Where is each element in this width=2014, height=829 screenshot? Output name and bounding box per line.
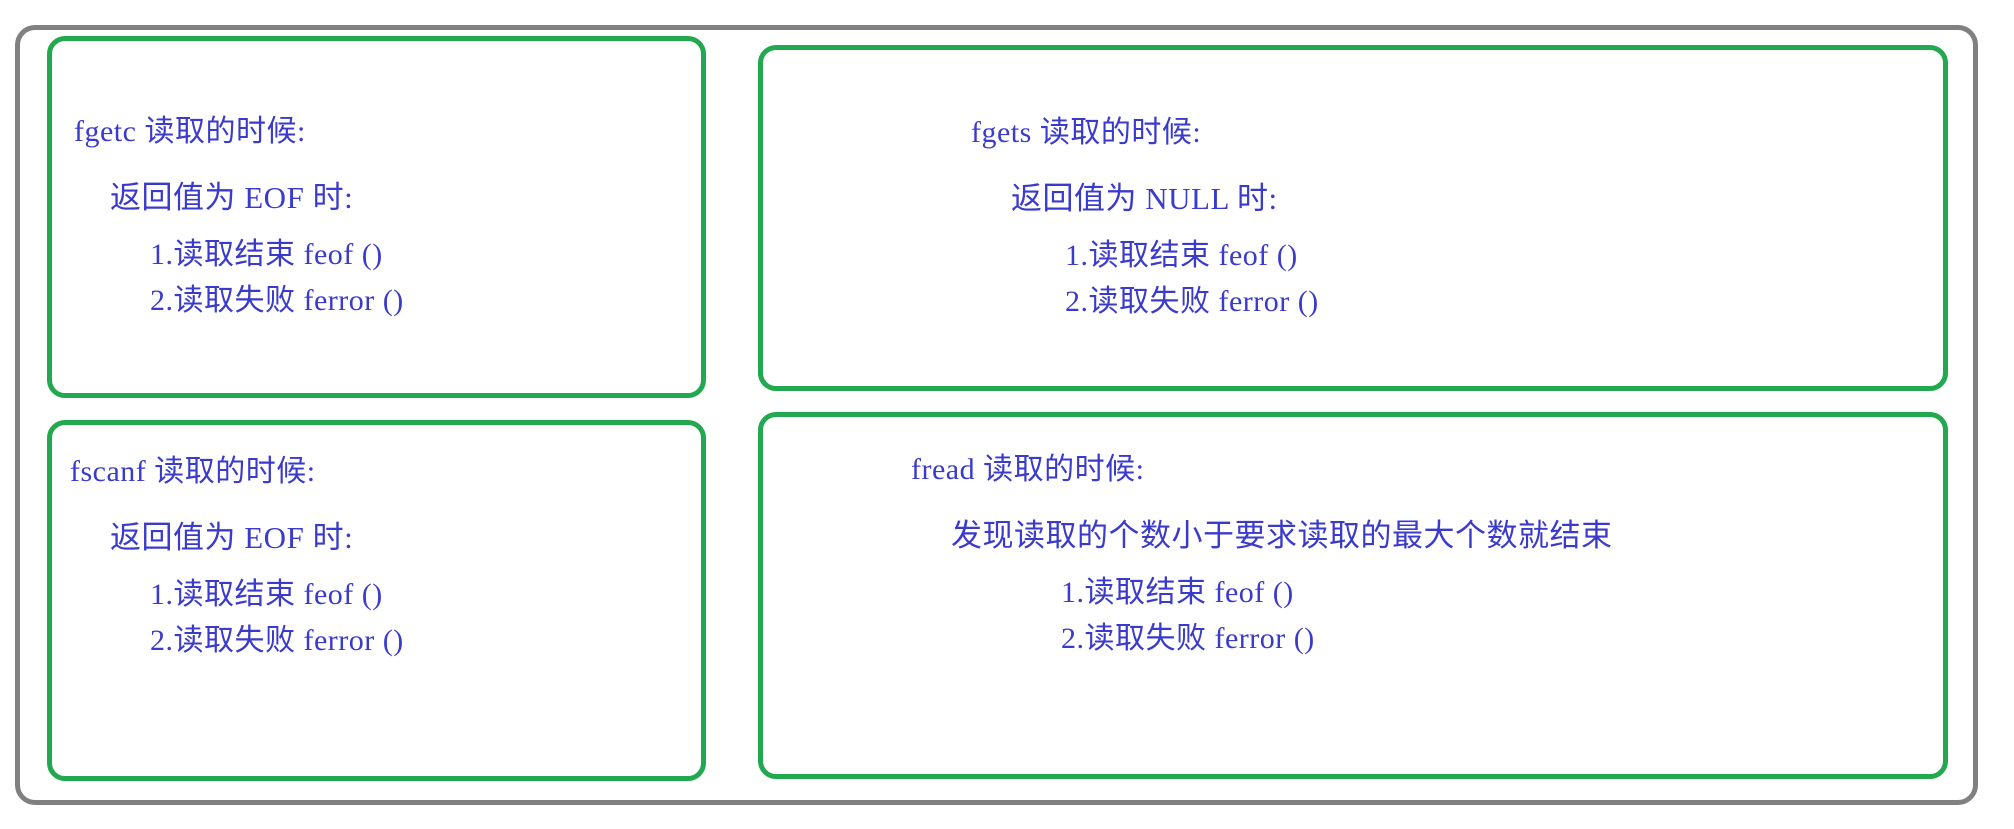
panel-fgets: fgets 读取的时候: 返回值为 NULL 时: 1.读取结束 feof ()… (758, 45, 1948, 391)
spacer (763, 494, 1943, 512)
spacer (52, 496, 701, 514)
spacer (52, 562, 701, 572)
panel-fgetc: fgetc 读取的时候: 返回值为 EOF 时: 1.读取结束 feof () … (47, 36, 706, 398)
spacer (763, 223, 1943, 233)
panel-fgets-line-1: 返回值为 NULL 时: (763, 175, 1943, 223)
panel-fscanf-line-3: 2.读取失败 ferror () (52, 618, 701, 665)
panel-fgets-lines: fgets 读取的时候: 返回值为 NULL 时: 1.读取结束 feof ()… (763, 50, 1943, 386)
panel-fgets-line-2: 1.读取结束 feof () (763, 233, 1943, 280)
panel-fscanf-line-0: fscanf 读取的时候: (52, 449, 701, 496)
panel-fgetc-lines: fgetc 读取的时候: 返回值为 EOF 时: 1.读取结束 feof () … (52, 41, 701, 393)
panel-fread-line-3: 2.读取失败 ferror () (763, 616, 1943, 663)
spacer (52, 156, 701, 174)
panel-fscanf: fscanf 读取的时候: 返回值为 EOF 时: 1.读取结束 feof ()… (47, 420, 706, 781)
panel-fread-line-0: fread 读取的时候: (763, 447, 1943, 494)
panel-fread-line-1: 发现读取的个数小于要求读取的最大个数就结束 (763, 512, 1943, 560)
spacer (52, 222, 701, 232)
panel-fscanf-lines: fscanf 读取的时候: 返回值为 EOF 时: 1.读取结束 feof ()… (52, 425, 701, 776)
spacer (763, 560, 1943, 570)
panel-fread: fread 读取的时候: 发现读取的个数小于要求读取的最大个数就结束 1.读取结… (758, 412, 1948, 779)
panel-fread-line-2: 1.读取结束 feof () (763, 570, 1943, 617)
diagram-canvas: fgetc 读取的时候: 返回值为 EOF 时: 1.读取结束 feof () … (0, 0, 2014, 829)
panel-fgetc-line-2: 1.读取结束 feof () (52, 232, 701, 279)
panel-fgetc-line-1: 返回值为 EOF 时: (52, 174, 701, 222)
panel-fgets-line-0: fgets 读取的时候: (763, 110, 1943, 157)
panel-fgetc-line-3: 2.读取失败 ferror () (52, 278, 701, 325)
panel-fscanf-line-1: 返回值为 EOF 时: (52, 514, 701, 562)
panel-fgetc-line-0: fgetc 读取的时候: (52, 109, 701, 156)
panel-fgets-line-3: 2.读取失败 ferror () (763, 279, 1943, 326)
spacer (763, 157, 1943, 175)
panel-fread-lines: fread 读取的时候: 发现读取的个数小于要求读取的最大个数就结束 1.读取结… (763, 417, 1943, 774)
panel-fscanf-line-2: 1.读取结束 feof () (52, 572, 701, 619)
